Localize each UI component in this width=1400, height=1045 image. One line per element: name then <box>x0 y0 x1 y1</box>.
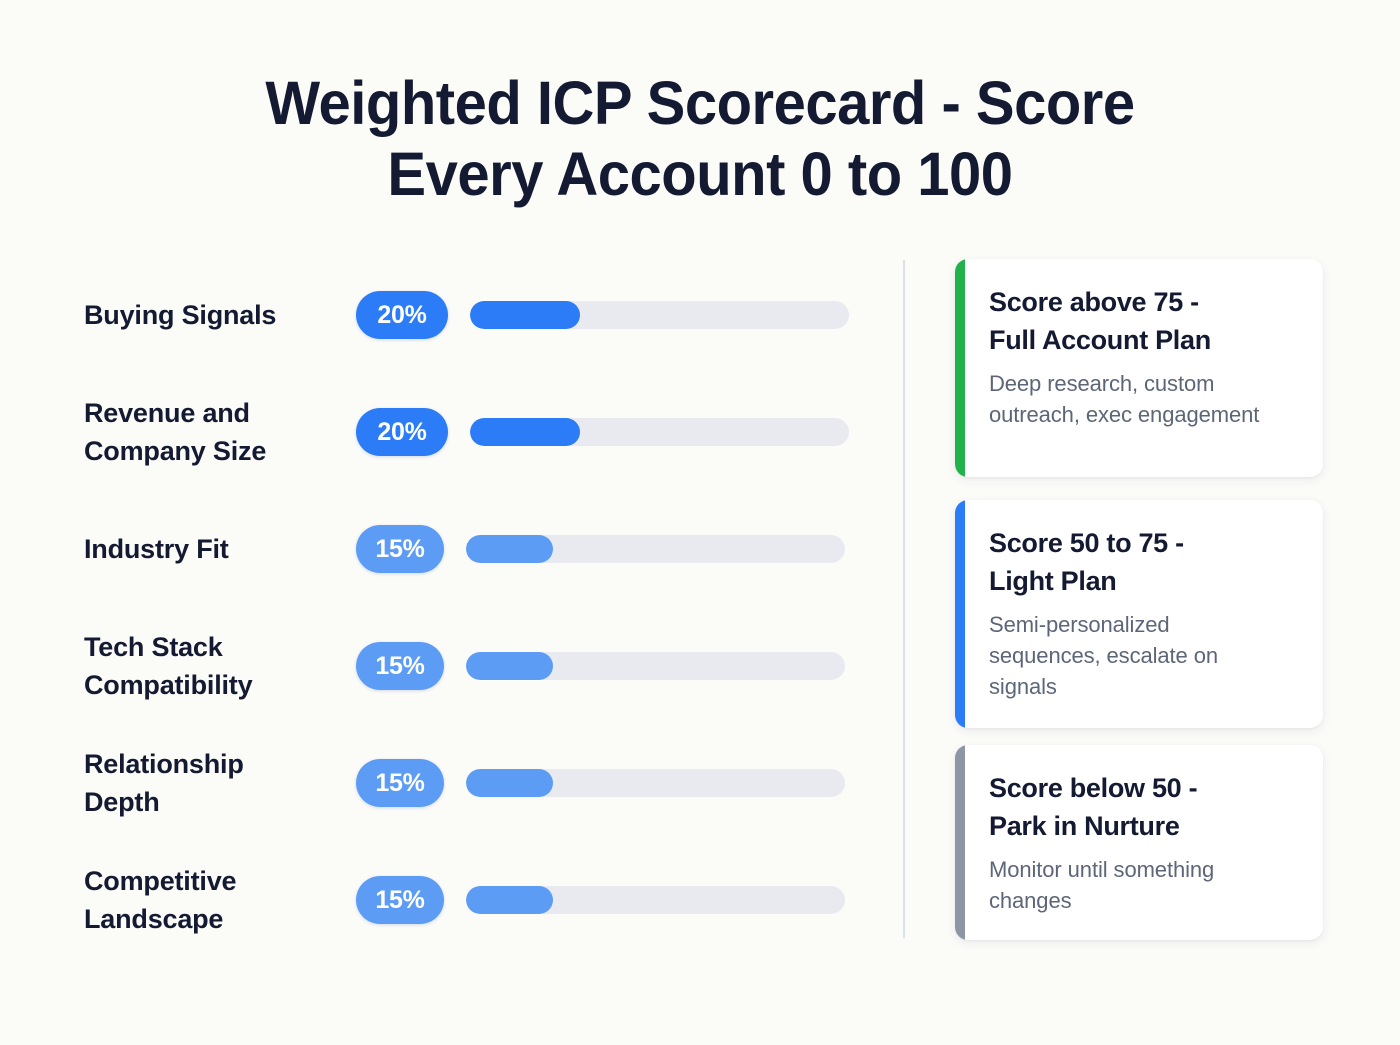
weight-percent-badge: 15% <box>356 876 444 924</box>
column-divider <box>903 260 905 938</box>
page-title: Weighted ICP Scorecard - Score Every Acc… <box>35 68 1365 210</box>
weight-percent-badge: 20% <box>356 408 448 456</box>
criteria-label: Buying Signals <box>84 296 356 334</box>
tier-description: Semi-personalized sequences, escalate on… <box>989 609 1301 702</box>
weight-progress-track <box>466 886 845 914</box>
criteria-label: Competitive Landscape <box>84 862 356 938</box>
weight-progress-fill <box>470 418 580 446</box>
tier-title: Score above 75 - Full Account Plan <box>989 283 1301 359</box>
weight-progress-track <box>466 535 845 563</box>
weight-progress-fill <box>466 535 553 563</box>
tier-content: Score 50 to 75 - Light Plan Semi-persona… <box>965 500 1323 728</box>
scorecard-board: Buying Signals 20% Revenue and Company S… <box>0 255 1400 955</box>
weight-progress-track <box>470 301 849 329</box>
tier-content: Score below 50 - Park in Nurture Monitor… <box>965 745 1323 940</box>
weight-progress-fill <box>466 769 553 797</box>
criteria-row: Tech Stack Compatibility 15% <box>84 636 874 696</box>
criteria-row: Relationship Depth 15% <box>84 753 874 813</box>
tier-description: Deep research, custom outreach, exec eng… <box>989 368 1301 430</box>
tier-accent-bar <box>955 745 965 940</box>
weight-progress-track <box>466 769 845 797</box>
criteria-row: Revenue and Company Size 20% <box>84 402 874 462</box>
weight-progress-track <box>466 652 845 680</box>
weight-progress-fill <box>466 886 553 914</box>
criteria-label: Revenue and Company Size <box>84 394 356 470</box>
score-tier-card: Score above 75 - Full Account Plan Deep … <box>955 259 1323 477</box>
weight-progress-track <box>470 418 849 446</box>
tier-title: Score 50 to 75 - Light Plan <box>989 524 1301 600</box>
tier-description: Monitor until something changes <box>989 854 1301 916</box>
criteria-label: Industry Fit <box>84 530 356 568</box>
tier-accent-bar <box>955 259 965 477</box>
score-tier-card: Score 50 to 75 - Light Plan Semi-persona… <box>955 500 1323 728</box>
tier-content: Score above 75 - Full Account Plan Deep … <box>965 259 1323 477</box>
tier-accent-bar <box>955 500 965 728</box>
weight-progress-fill <box>470 301 580 329</box>
criteria-label: Tech Stack Compatibility <box>84 628 356 704</box>
criteria-label: Relationship Depth <box>84 745 356 821</box>
criteria-row: Industry Fit 15% <box>84 519 874 579</box>
criteria-row: Competitive Landscape 15% <box>84 870 874 930</box>
tier-title: Score below 50 - Park in Nurture <box>989 769 1301 845</box>
criteria-row: Buying Signals 20% <box>84 285 874 345</box>
score-tier-card: Score below 50 - Park in Nurture Monitor… <box>955 745 1323 940</box>
weight-progress-fill <box>466 652 553 680</box>
weight-percent-badge: 15% <box>356 642 444 690</box>
weight-percent-badge: 15% <box>356 525 444 573</box>
weight-percent-badge: 20% <box>356 291 448 339</box>
weight-percent-badge: 15% <box>356 759 444 807</box>
